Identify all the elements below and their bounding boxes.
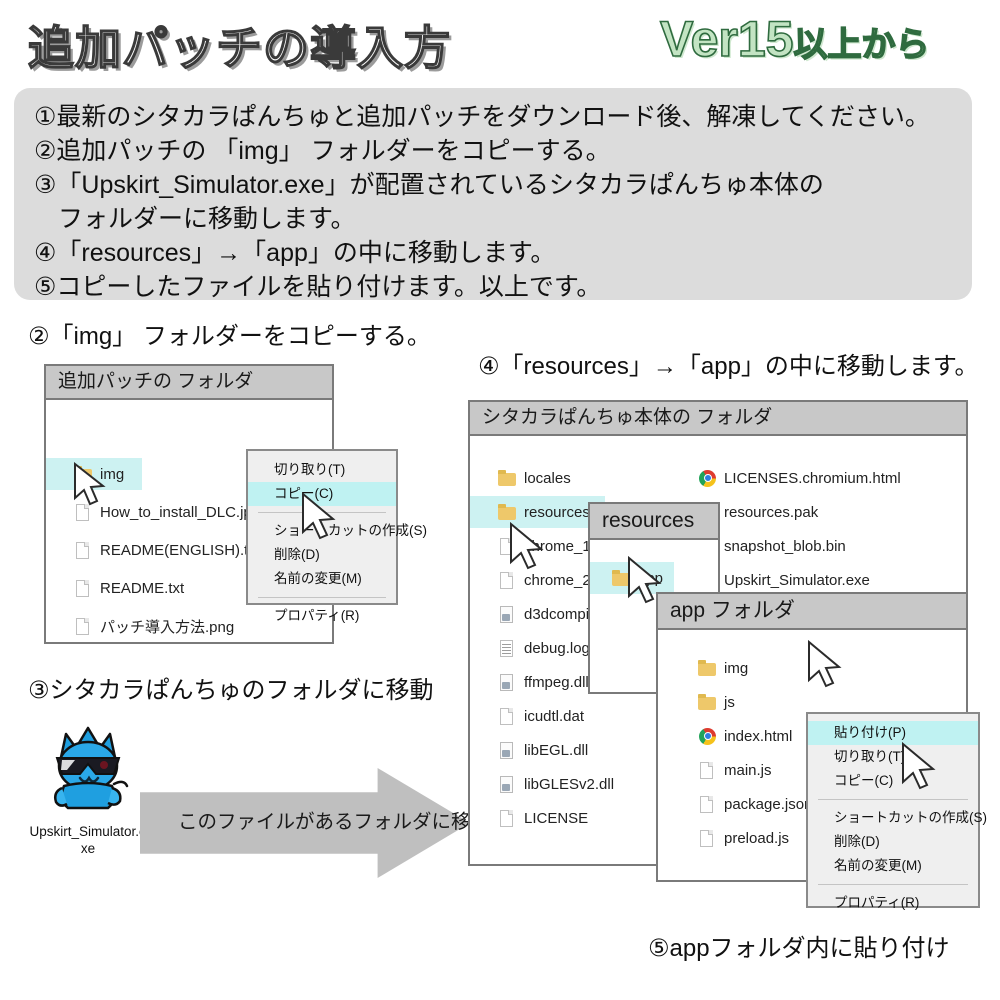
file-name: main.js: [717, 762, 772, 779]
mascot-label: Upskirt_Simulator.exe: [28, 823, 148, 857]
file-name: libGLESv2.dll: [517, 776, 614, 793]
file-name: index.html: [717, 728, 792, 745]
list-item[interactable]: resources: [470, 496, 605, 528]
file-name: d3dcompi: [517, 606, 589, 623]
version-badge: Ver15以上から: [660, 10, 929, 68]
menu-separator: [258, 597, 386, 598]
file-name: libEGL.dll: [517, 742, 588, 759]
file-name: package.json: [717, 796, 812, 813]
folder-icon: [612, 570, 631, 587]
main-folder-titlebar: シタカラぱんちゅ本体の フォルダ: [470, 402, 966, 436]
dll-icon: [498, 776, 517, 793]
instruction-line: フォルダーに移動します。: [34, 202, 952, 236]
resources-filelist: app: [590, 540, 718, 594]
caption-step2: ②「img」 フォルダーをコピーする。: [28, 316, 431, 351]
menu-separator: [818, 799, 968, 800]
page-title: 追加パッチの導入方: [28, 12, 451, 78]
file-name: preload.js: [717, 830, 789, 847]
file-name: icudtl.dat: [517, 708, 584, 725]
doc-icon: [74, 504, 93, 521]
list-item[interactable]: libEGL.dll: [470, 734, 686, 766]
chrome-icon: [698, 470, 717, 487]
context-menu-item-properties[interactable]: プロパティ(R): [248, 604, 396, 628]
dll-icon: [498, 674, 517, 691]
file-name: README.txt: [93, 580, 184, 597]
file-name: resources: [517, 504, 590, 521]
instruction-line: ③「Upskirt_Simulator.exe」が配置されているシタカラぱんちゅ…: [34, 168, 952, 202]
resources-titlebar: resources: [590, 504, 718, 540]
list-item[interactable]: snapshot_blob.bin: [686, 530, 946, 562]
folder-icon: [498, 504, 517, 521]
file-name: LICENSES.chromium.html: [717, 470, 901, 487]
instruction-line: ④「resources」→「app」の中に移動します。: [34, 236, 952, 270]
doc-icon: [498, 538, 517, 555]
context-menu-item-copy[interactable]: コピー(C): [248, 482, 396, 506]
copy-context-menu[interactable]: 切り取り(T) コピー(C) ショートカットの作成(S) 削除(D) 名前の変更…: [246, 449, 398, 605]
file-name: LICENSE: [517, 810, 588, 827]
file-name: chrome_10: [517, 538, 599, 555]
instruction-line: ①最新のシタカラぱんちゅと追加パッチをダウンロード後、解凍してください。: [34, 100, 952, 134]
folder-icon: [498, 470, 517, 487]
doc-icon: [498, 708, 517, 725]
list-item[interactable]: img: [46, 458, 142, 490]
list-item[interactable]: img: [658, 652, 966, 684]
file-name: snapshot_blob.bin: [717, 538, 846, 555]
patch-folder-titlebar: 追加パッチの フォルダ: [46, 366, 332, 400]
context-menu-item-create-shortcut[interactable]: ショートカットの作成(S): [808, 806, 978, 830]
caption-step5: ⑤appフォルダ内に貼り付け: [648, 928, 950, 963]
file-name: img: [717, 660, 748, 677]
doc-icon: [498, 810, 517, 827]
menu-separator: [818, 884, 968, 885]
file-name: chrome_20: [517, 572, 599, 589]
folder-icon: [74, 466, 93, 483]
context-menu-item-copy[interactable]: コピー(C): [808, 769, 978, 793]
context-menu-item-rename[interactable]: 名前の変更(M): [248, 567, 396, 591]
file-name: img: [93, 466, 124, 483]
list-item[interactable]: app: [590, 562, 674, 594]
file-name: Upskirt_Simulator.exe: [717, 572, 870, 589]
instruction-line: ⑤コピーしたファイルを貼り付けます。以上です。: [34, 270, 952, 304]
context-menu-item-properties[interactable]: プロパティ(R): [808, 891, 978, 915]
list-item[interactable]: locales: [470, 462, 686, 494]
folder-icon: [698, 660, 717, 677]
version-number: Ver15: [660, 11, 793, 67]
doc-icon: [74, 618, 93, 635]
context-menu-item-rename[interactable]: 名前の変更(M): [808, 854, 978, 878]
instruction-line: ②追加パッチの 「img」 フォルダーをコピーする。: [34, 134, 952, 168]
menu-separator: [258, 512, 386, 513]
file-name: js: [717, 694, 735, 711]
file-name: パッチ導入方法.png: [93, 616, 234, 637]
context-menu-item-paste[interactable]: 貼り付け(P): [808, 721, 978, 745]
doc-icon: [498, 572, 517, 589]
paste-context-menu[interactable]: 貼り付け(P) 切り取り(T) コピー(C) ショートカットの作成(S) 削除(…: [806, 712, 980, 908]
caption-step3: ③シタカラぱんちゅのフォルダに移動: [28, 670, 434, 705]
log-icon: [498, 640, 517, 657]
version-suffix: 以上から: [793, 26, 929, 64]
file-name: README(ENGLISH).txt: [93, 542, 260, 559]
instructions-panel: ①最新のシタカラぱんちゅと追加パッチをダウンロード後、解凍してください。 ②追加…: [14, 88, 972, 300]
chrome-icon: [698, 728, 717, 745]
doc-icon: [698, 796, 717, 813]
move-arrow-label: このファイルがあるフォルダに移動: [178, 805, 448, 834]
list-item[interactable]: resources.pak: [686, 496, 946, 528]
doc-icon: [74, 542, 93, 559]
dll-icon: [498, 606, 517, 623]
context-menu-item-cut[interactable]: 切り取り(T): [808, 745, 978, 769]
context-menu-item-delete[interactable]: 削除(D): [248, 543, 396, 567]
file-name: locales: [517, 470, 571, 487]
caption-step4: ④「resources」→「app」の中に移動します。: [478, 346, 979, 381]
file-name: ffmpeg.dll: [517, 674, 589, 691]
list-item[interactable]: LICENSE: [470, 802, 686, 834]
context-menu-item-cut[interactable]: 切り取り(T): [248, 458, 396, 482]
doc-icon: [698, 830, 717, 847]
list-item[interactable]: libGLESv2.dll: [470, 768, 686, 800]
doc-icon: [74, 580, 93, 597]
list-item[interactable]: icudtl.dat: [470, 700, 686, 732]
upskirt-simulator-cat-icon: [40, 722, 136, 814]
app-folder-titlebar: app フォルダ: [658, 594, 966, 630]
file-name: resources.pak: [717, 504, 818, 521]
mascot-block: Upskirt_Simulator.exe: [28, 722, 148, 857]
context-menu-item-delete[interactable]: 削除(D): [808, 830, 978, 854]
context-menu-item-create-shortcut[interactable]: ショートカットの作成(S): [248, 519, 396, 543]
dll-icon: [498, 742, 517, 759]
list-item[interactable]: LICENSES.chromium.html: [686, 462, 946, 494]
file-name: debug.log: [517, 640, 590, 657]
file-name: app: [631, 570, 663, 587]
doc-icon: [698, 762, 717, 779]
folder-icon: [698, 694, 717, 711]
file-name: How_to_install_DLC.jpg: [93, 504, 260, 521]
